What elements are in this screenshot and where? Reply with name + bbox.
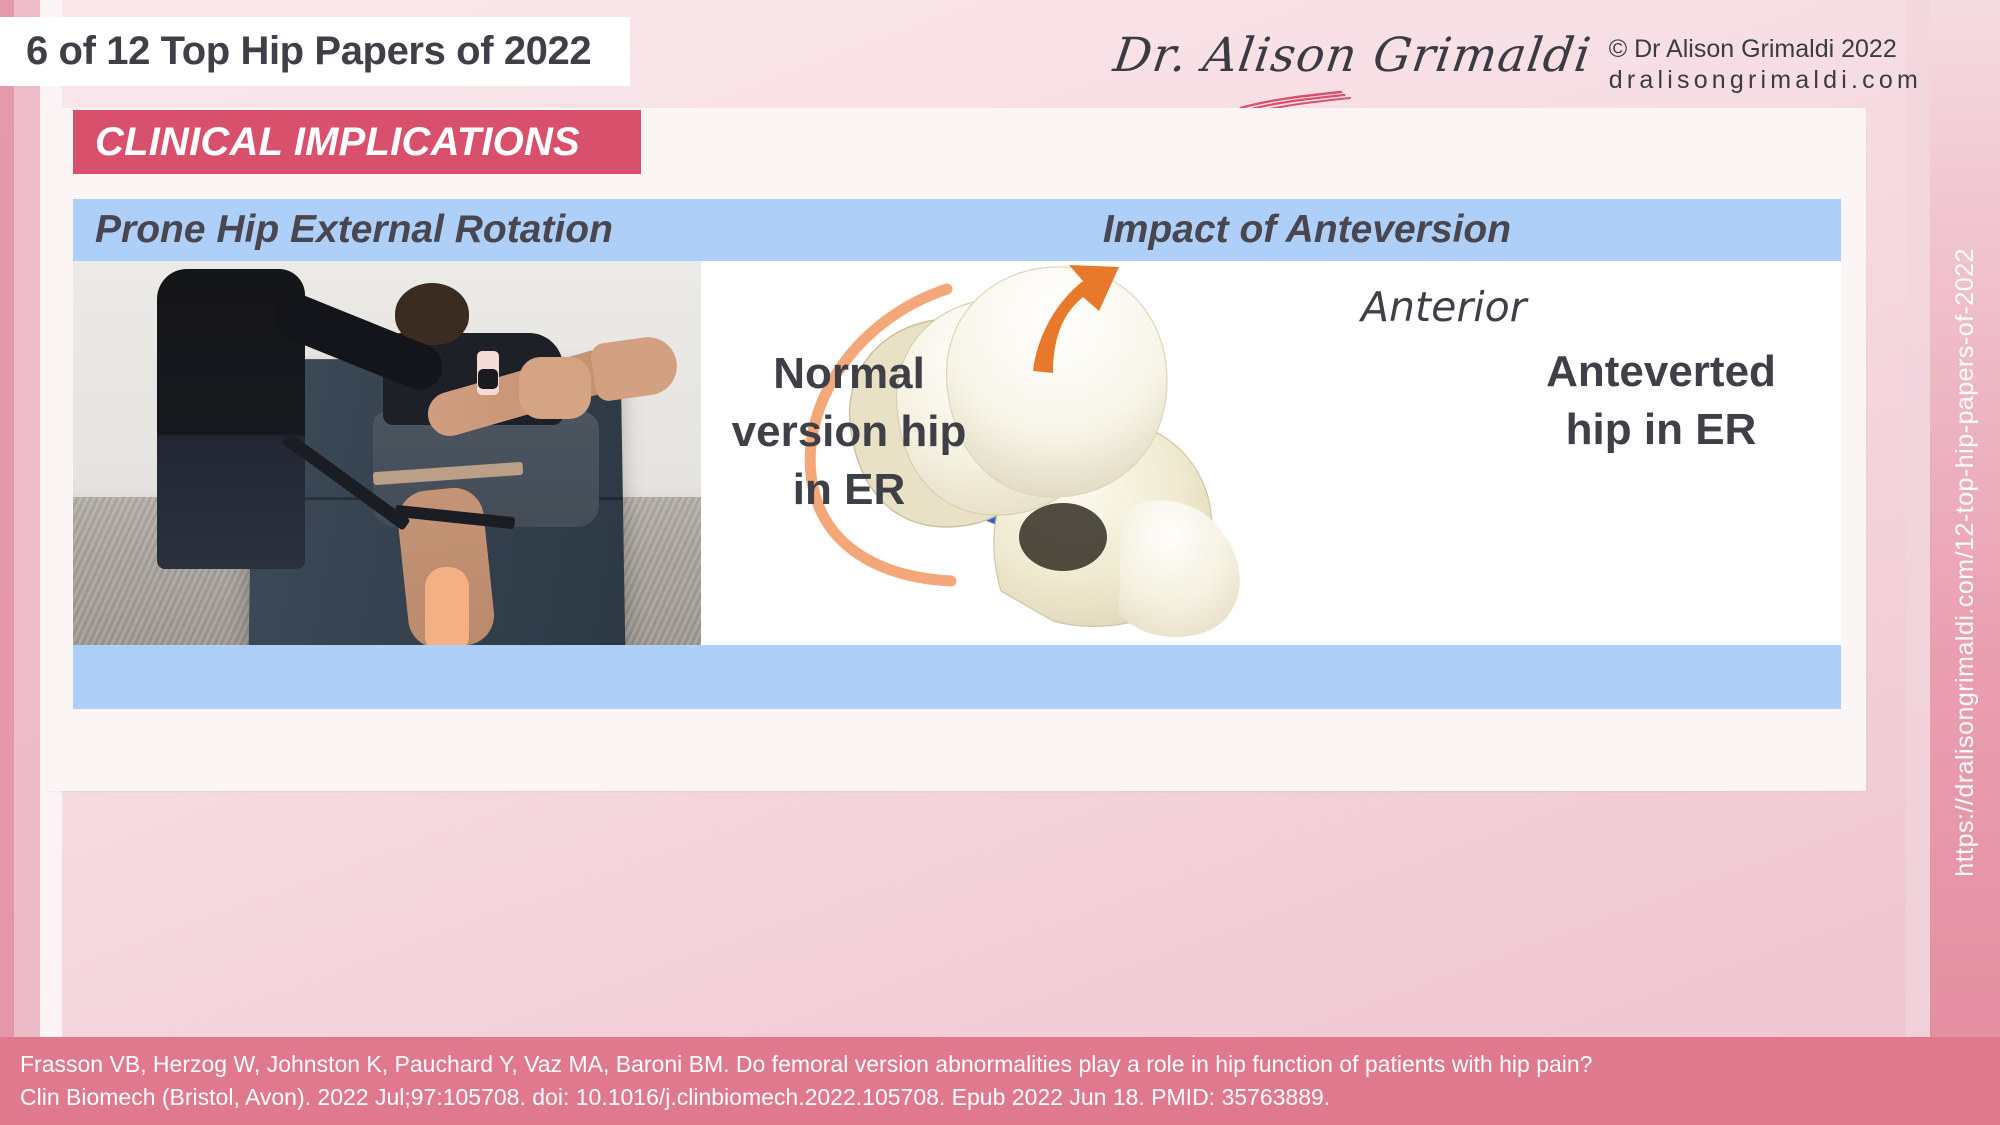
slide-background: https://dralisongrimaldi.com/12-top-hip-… [0,0,2000,1125]
neck-shadow [1019,503,1107,571]
content-band: Prone Hip External Rotation Impact of An… [73,199,1841,709]
right-accent-stripe [1906,0,1930,1125]
section-banner-label: CLINICAL IMPLICATIONS [73,120,580,165]
vertical-url[interactable]: https://dralisongrimaldi.com/12-top-hip-… [1930,0,2000,1125]
citation-line-1: Frasson VB, Herzog W, Johnston K, Paucha… [20,1048,2000,1081]
left-accent-stripe-2 [14,0,40,1125]
page-title: 6 of 12 Top Hip Papers of 2022 [0,29,591,74]
greater-trochanter [1119,501,1240,638]
signature-text: Dr. Alison Grimaldi [1110,28,1595,83]
anteversion-diagram: Normal version hip in ER Anteverted hip … [701,261,1841,645]
photo-patient-sock [425,567,469,645]
femoral-head-anterior [946,267,1167,497]
panel-footer-bar [73,645,1841,709]
citation-line-2: Clin Biomech (Bristol, Avon). 2022 Jul;9… [20,1081,2000,1114]
section-banner: CLINICAL IMPLICATIONS [73,110,641,174]
photo-wrist-watch [477,351,499,395]
prone-hip-external-rotation-photo [73,261,701,645]
copyright-block: © Dr Alison Grimaldi 2022 dralisongrimal… [1609,16,1922,97]
anterior-label: Anterior [1361,283,1527,331]
photo-therapist-hand [519,357,591,419]
brand-block: Dr. Alison Grimaldi © Dr Alison Grimaldi… [1114,16,1922,97]
vertical-url-text: https://dralisongrimaldi.com/12-top-hip-… [1951,248,1980,877]
panel-header-bar: Prone Hip External Rotation Impact of An… [73,199,1841,261]
left-panel-title: Prone Hip External Rotation [95,199,613,261]
website-line: dralisongrimaldi.com [1609,65,1922,96]
citation-strip: Frasson VB, Herzog W, Johnston K, Paucha… [0,1037,2000,1125]
copyright-line: © Dr Alison Grimaldi 2022 [1609,34,1922,65]
anteverted-label: Anteverted hip in ER [1511,343,1811,459]
signature-logo: Dr. Alison Grimaldi [1110,28,1595,83]
normal-version-label: Normal version hip in ER [729,345,969,519]
left-accent-stripe-1 [0,0,14,1125]
right-panel-title: Impact of Anteversion [773,199,1841,261]
title-tab: 6 of 12 Top Hip Papers of 2022 [0,17,630,86]
